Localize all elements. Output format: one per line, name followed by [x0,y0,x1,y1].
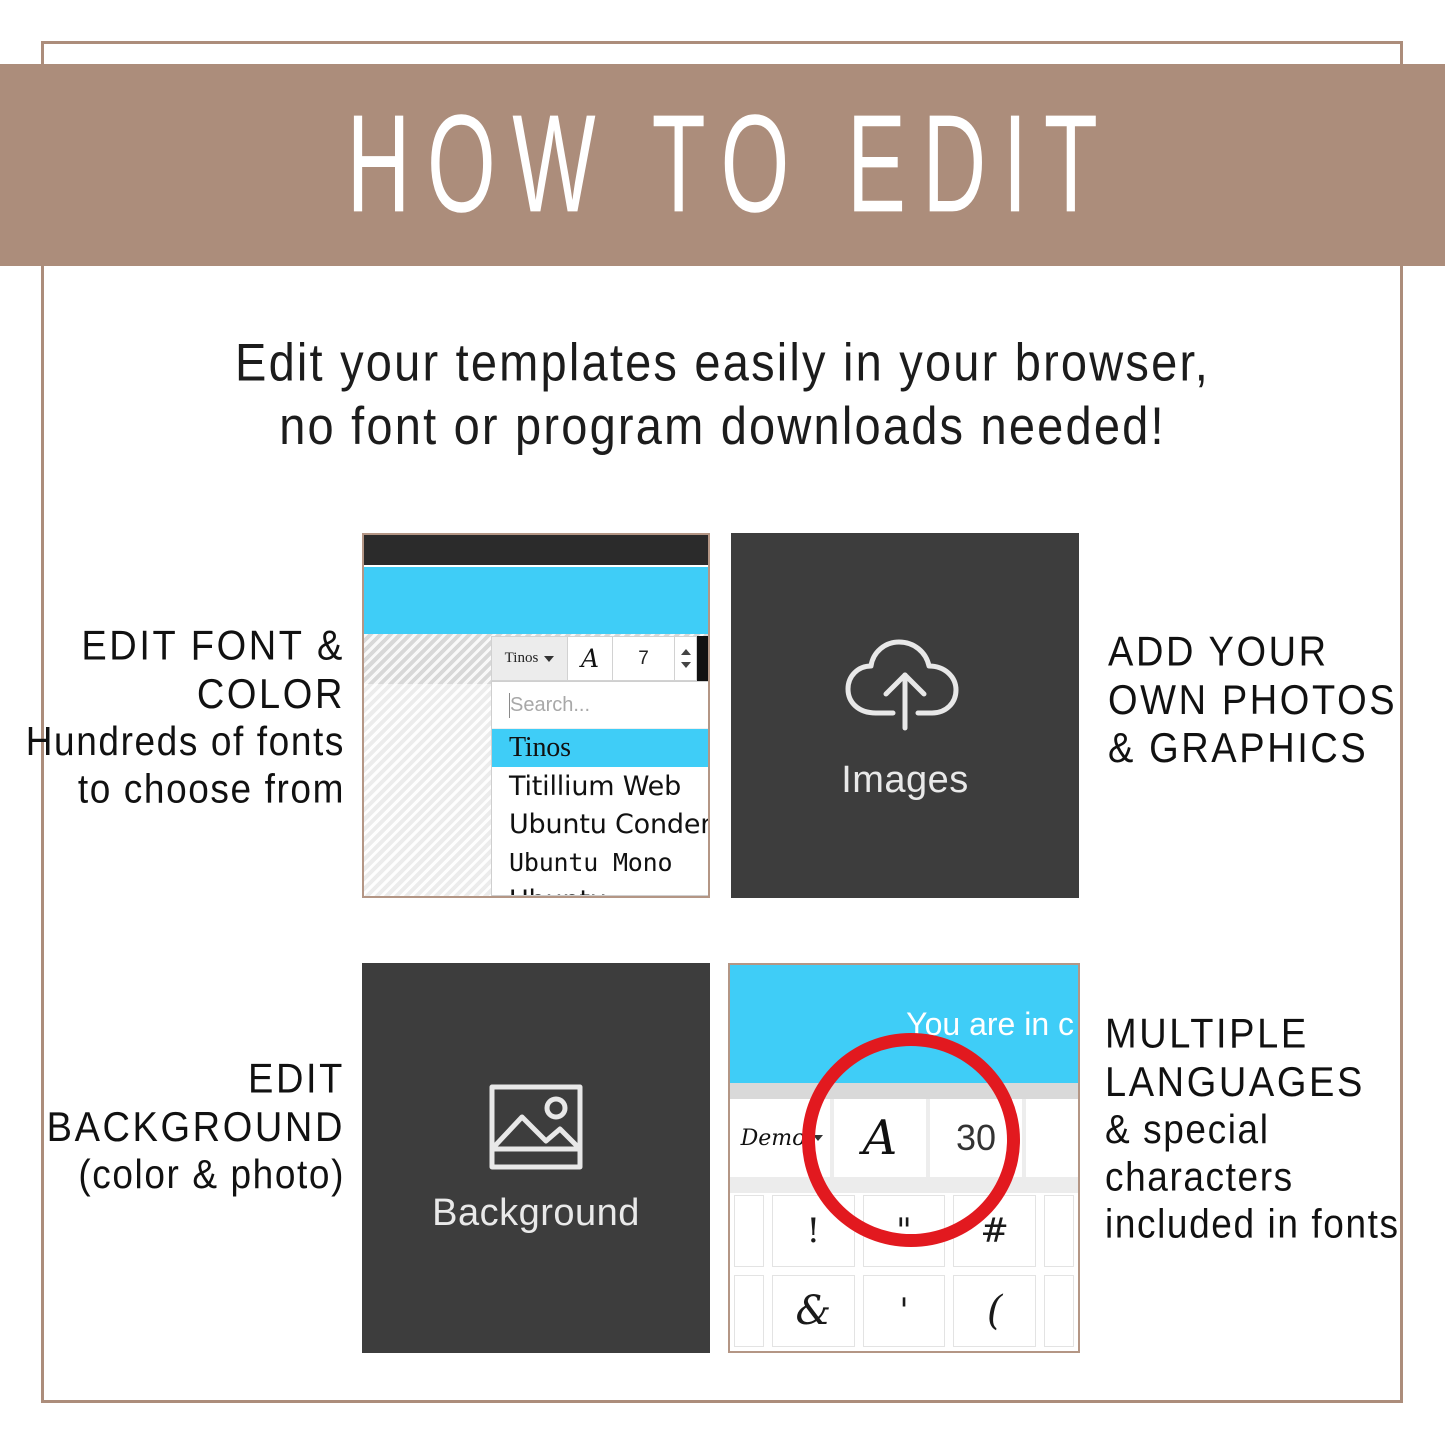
background-tile-label: Background [432,1192,640,1235]
font-size-stepper[interactable] [675,636,697,681]
glyph-cell[interactable] [1044,1195,1074,1267]
glyph-cell[interactable]: # [953,1195,1036,1267]
header-banner: HOW TO EDIT [0,64,1445,266]
caption-add-photos: ADD YOUR OWN PHOTOS & GRAPHICS [1108,628,1438,773]
font-toolbar: Tinos A 7 [491,636,710,681]
glyph-row-separator [730,1177,1078,1193]
chevron-down-icon [813,1135,823,1141]
script-a-icon: A [863,1110,898,1166]
subtitle-text: Edit your templates easily in your brows… [70,330,1375,458]
glyph-cell[interactable]: " [863,1195,946,1267]
subtitle-line-2: no font or program downloads needed! [70,394,1375,458]
glyph-banner-text: You are in c [906,1006,1074,1043]
glyph-character-grid: ! " # & ' ( [730,1193,1078,1351]
glyph-toolbar-filler [1026,1099,1078,1177]
screenshot-glyph-map: You are in c Demo A 30 ! " # & ' ( [728,963,1080,1353]
screenshot-images-tile: Images [731,533,1079,898]
glyph-editor-banner: You are in c [730,965,1078,1083]
font-name-value: Tinos [505,650,539,667]
cloud-upload-icon [838,630,973,745]
caption-subtext: Hundreds of fonts to choose from [20,719,345,813]
font-option-tinos[interactable]: Tinos [492,729,710,767]
font-size-input[interactable]: 7 [613,636,675,681]
images-tile-label: Images [841,759,969,802]
color-swatch-button[interactable] [697,636,710,681]
font-name-dropdown[interactable]: Tinos [491,636,568,681]
chevron-down-icon [544,656,554,662]
images-tile-content[interactable]: Images [731,533,1079,898]
glyph-cell[interactable]: ( [953,1275,1036,1347]
glyph-font-size-input[interactable]: 30 [930,1099,1026,1177]
subtitle-line-1: Edit your templates easily in your brows… [235,332,1210,391]
glyph-cell[interactable]: ' [863,1275,946,1347]
glyph-cell[interactable] [734,1195,764,1267]
font-option-titillium-web[interactable]: Titillium Web [492,767,710,805]
glyph-gray-divider [730,1083,1078,1099]
font-option-ubuntu[interactable]: Ubuntu [492,881,710,896]
caption-heading: ADD YOUR OWN PHOTOS & GRAPHICS [1108,628,1438,773]
stepper-down-icon[interactable] [681,662,691,668]
picture-icon [486,1081,586,1178]
caption-edit-font-color: EDIT FONT & COLOR Hundreds of fonts to c… [20,622,345,813]
font-search-input[interactable]: Search... [492,682,710,729]
caption-multiple-languages: MULTIPLE LANGUAGES & special characters … [1105,1010,1435,1249]
caption-subtext: (color & photo) [10,1152,345,1199]
caption-edit-background: EDIT BACKGROUND (color & photo) [10,1055,345,1199]
font-option-ubuntu-condensed[interactable]: Ubuntu Condensed [492,805,710,843]
page-title: HOW TO EDIT [330,95,1114,234]
caption-heading: MULTIPLE LANGUAGES [1105,1010,1435,1107]
screenshot-background-tile: Background [362,963,710,1353]
glyph-font-style-button[interactable]: A [834,1099,930,1177]
script-a-icon: A [581,644,599,673]
stepper-up-icon[interactable] [681,649,691,655]
editor-title-bar [364,535,708,565]
glyph-font-name-dropdown[interactable]: Demo [730,1099,834,1177]
font-dropdown-panel[interactable]: Search... Tinos Titillium Web Ubuntu Con… [491,681,710,896]
glyph-cell[interactable] [1044,1275,1074,1347]
font-option-ubuntu-mono[interactable]: Ubuntu Mono [492,843,710,881]
glyph-cell[interactable]: ! [772,1195,855,1267]
caption-subtext: & special characters included in fonts [1105,1107,1435,1249]
glyph-cell[interactable]: & [772,1275,855,1347]
caption-heading: EDIT BACKGROUND [10,1055,345,1152]
glyph-cell[interactable] [734,1275,764,1347]
background-tile-content[interactable]: Background [362,963,710,1353]
glyph-toolbar: Demo A 30 [730,1099,1078,1177]
screenshot-font-picker: Tinos A 7 Search... Tinos Titillium Web … [362,533,710,898]
font-style-button[interactable]: A [568,636,613,681]
glyph-font-name-value: Demo [741,1126,806,1151]
editor-cyan-banner [364,567,708,634]
caption-heading: EDIT FONT & COLOR [20,622,345,719]
glyph-font-size-value: 30 [956,1117,996,1159]
font-size-value: 7 [638,648,649,670]
